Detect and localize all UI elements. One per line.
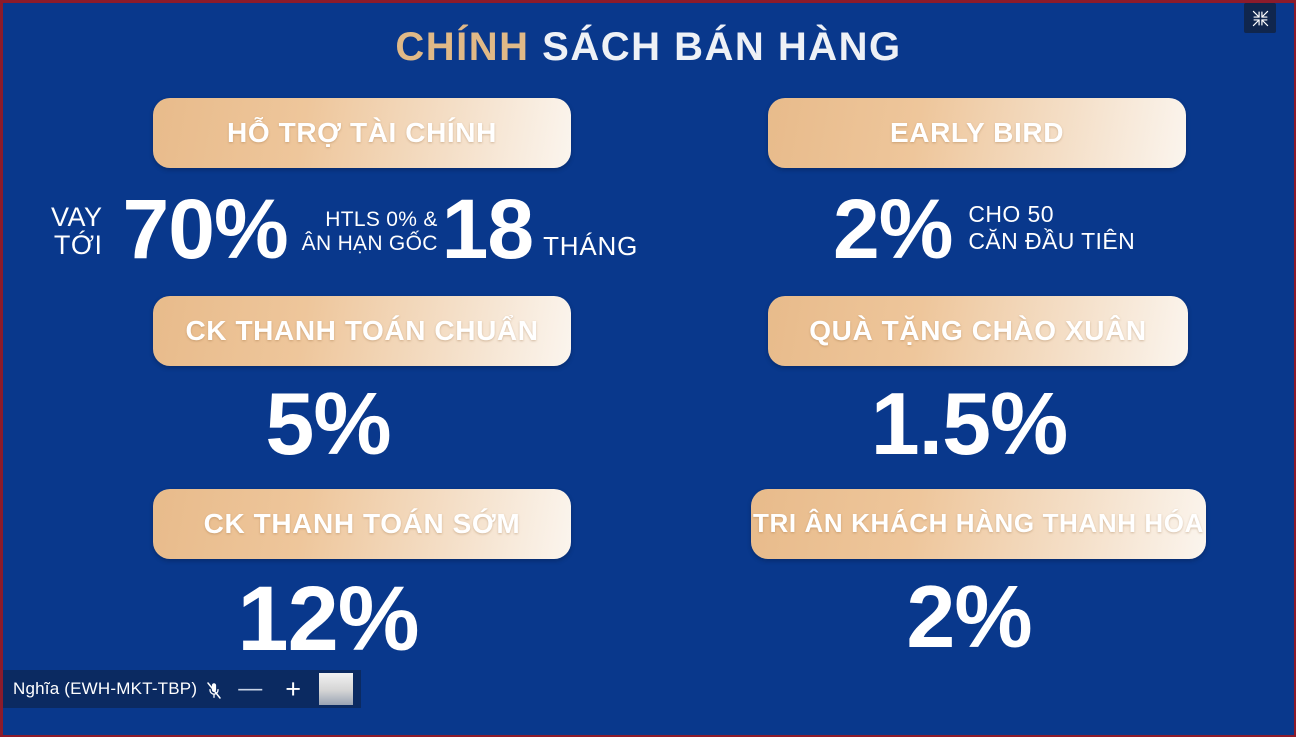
presenter-name: Nghĩa (EWH-MKT-TBP)	[13, 679, 197, 699]
interest-support-line2: ÂN HẠN GỐC	[302, 232, 438, 256]
drag-handle[interactable]	[319, 673, 353, 705]
loan-prefix-line2: TỚI	[51, 232, 103, 260]
spring-gift-value: 1.5%	[658, 380, 1268, 468]
slide-title: CHÍNH SÁCH BÁN HÀNG	[3, 25, 1294, 70]
standard-payment-discount-value: 5%	[33, 380, 643, 468]
policy-column-right: EARLY BIRD 2% CHO 50 CĂN ĐẦU TIÊN QUÀ TẶ…	[658, 98, 1268, 661]
early-bird-note-line1: CHO 50	[968, 201, 1135, 229]
pill-label: QUÀ TẶNG CHÀO XUÂN	[809, 315, 1146, 347]
early-payment-discount-value: 12%	[33, 573, 643, 665]
early-bird-note: CHO 50 CĂN ĐẦU TIÊN	[968, 201, 1135, 270]
early-bird-values: 2% CHO 50 CĂN ĐẦU TIÊN	[658, 190, 1268, 270]
interest-support-note: HTLS 0% & ÂN HẠN GỐC	[302, 208, 438, 270]
grace-period-unit: THÁNG	[543, 231, 638, 270]
slide-title-rest: SÁCH BÁN HÀNG	[542, 25, 902, 69]
exit-fullscreen-button[interactable]	[1244, 3, 1276, 33]
presentation-slide: CHÍNH SÁCH BÁN HÀNG HỖ TRỢ TÀI CHÍNH VAY…	[3, 3, 1294, 735]
slide-title-highlight: CHÍNH	[395, 25, 529, 69]
pill-early-bird[interactable]: EARLY BIRD	[768, 98, 1186, 168]
financial-support-values: VAY TỚI 70% HTLS 0% & ÂN HẠN GỐC 18 THÁN…	[33, 190, 643, 270]
pill-label: CK THANH TOÁN SỚM	[204, 508, 521, 540]
pill-early-payment-discount[interactable]: CK THANH TOÁN SỚM	[153, 489, 571, 559]
thanh-hoa-loyalty-value: 2%	[658, 573, 1268, 661]
pill-financial-support[interactable]: HỖ TRỢ TÀI CHÍNH	[153, 98, 571, 168]
presenter-zoom-bar[interactable]: Nghĩa (EWH-MKT-TBP) — +	[3, 670, 361, 708]
pill-standard-payment-discount[interactable]: CK THANH TOÁN CHUẨN	[153, 296, 571, 366]
interest-support-line1: HTLS 0% &	[302, 208, 438, 232]
pill-label: CK THANH TOÁN CHUẨN	[185, 315, 538, 347]
loan-prefix-line1: VAY	[51, 204, 103, 232]
pill-label: TRI ÂN KHÁCH HÀNG THANH HÓA	[753, 508, 1204, 539]
microphone-muted-icon[interactable]	[206, 681, 222, 701]
early-bird-percent: 2%	[833, 190, 952, 270]
grace-period-months: 18	[442, 190, 533, 270]
pill-label: EARLY BIRD	[890, 117, 1064, 149]
pill-label: HỖ TRỢ TÀI CHÍNH	[227, 117, 497, 149]
early-bird-note-line2: CĂN ĐẦU TIÊN	[968, 228, 1135, 256]
app-window: CHÍNH SÁCH BÁN HÀNG HỖ TRỢ TÀI CHÍNH VAY…	[0, 0, 1296, 737]
loan-percent: 70%	[123, 190, 288, 270]
policy-column-left: HỖ TRỢ TÀI CHÍNH VAY TỚI 70% HTLS 0% & Â…	[33, 98, 643, 665]
loan-prefix: VAY TỚI	[51, 204, 103, 270]
zoom-in-button[interactable]: +	[278, 676, 308, 703]
exit-fullscreen-icon	[1252, 10, 1269, 27]
zoom-out-button[interactable]: —	[231, 677, 269, 701]
pill-spring-gift[interactable]: QUÀ TẶNG CHÀO XUÂN	[768, 296, 1188, 366]
pill-thanh-hoa-loyalty[interactable]: TRI ÂN KHÁCH HÀNG THANH HÓA	[751, 489, 1206, 559]
